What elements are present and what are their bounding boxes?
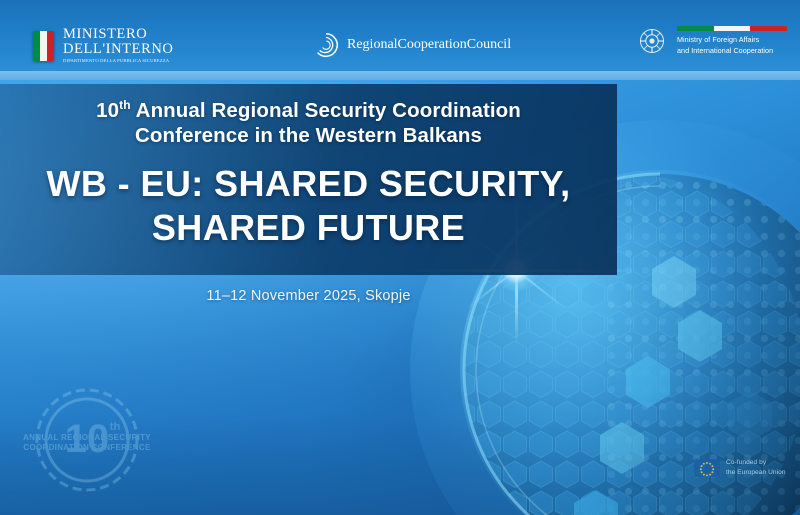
headline-line1: WB - EU: SHARED SECURITY,	[40, 162, 577, 206]
anniversary-badge-watermark: 10 th ANNUAL REGIONAL SECURITY COORDINAT…	[22, 380, 152, 495]
conference-headline: WB - EU: SHARED SECURITY, SHARED FUTURE	[0, 162, 617, 250]
rcc-label: RegionalCooperationCouncil	[347, 37, 511, 53]
ministry-interior-department: DIPARTIMENTO DELLA PUBBLICA SICUREZZA	[63, 59, 173, 64]
italian-tricolor-bar-icon	[677, 26, 787, 31]
logo-ministry-of-interior: MINISTERO DELL'INTERNO DIPARTIMENTO DELL…	[33, 27, 173, 64]
maeci-line2: and International Cooperation	[677, 46, 787, 56]
badge-line1: ANNUAL REGIONAL SECURITY	[23, 433, 151, 442]
kicker-line1-rest: Annual Regional Security Coordination	[131, 99, 521, 122]
eu-line2: the European Union	[726, 468, 786, 478]
maeci-line1: Ministry of Foreign Affairs	[677, 35, 787, 45]
italian-flag-icon	[33, 31, 54, 61]
ministry-interior-line2: DELL'INTERNO	[63, 42, 173, 57]
italian-republic-emblem-icon	[637, 26, 667, 56]
kicker-number: 10	[96, 99, 119, 122]
conference-dateline: 11–12 November 2025, Skopje	[0, 288, 617, 304]
ministry-interior-line1: MINISTERO	[63, 27, 173, 42]
eu-cofunded-logo: Co-funded by the European Union	[694, 458, 786, 477]
conference-kicker: 10th Annual Regional Security Coordinati…	[0, 98, 617, 148]
headline-line2: SHARED FUTURE	[40, 206, 577, 250]
rcc-spiral-icon	[313, 32, 339, 58]
logo-regional-cooperation-council: RegionalCooperationCouncil	[313, 32, 511, 58]
logo-ministry-foreign-affairs: Ministry of Foreign Affairs and Internat…	[637, 26, 787, 56]
kicker-line2: Conference in the Western Balkans	[135, 124, 482, 147]
title-content: 10th Annual Regional Security Coordinati…	[0, 84, 617, 275]
eu-line1: Co-funded by	[726, 458, 786, 468]
badge-ordinal: th	[110, 421, 121, 433]
conference-banner: MINISTERO DELL'INTERNO DIPARTIMENTO DELL…	[0, 0, 800, 515]
kicker-ordinal: th	[119, 98, 131, 112]
eu-stars-icon	[694, 459, 720, 477]
badge-line2: COORDINATION CONFERENCE	[23, 443, 151, 452]
